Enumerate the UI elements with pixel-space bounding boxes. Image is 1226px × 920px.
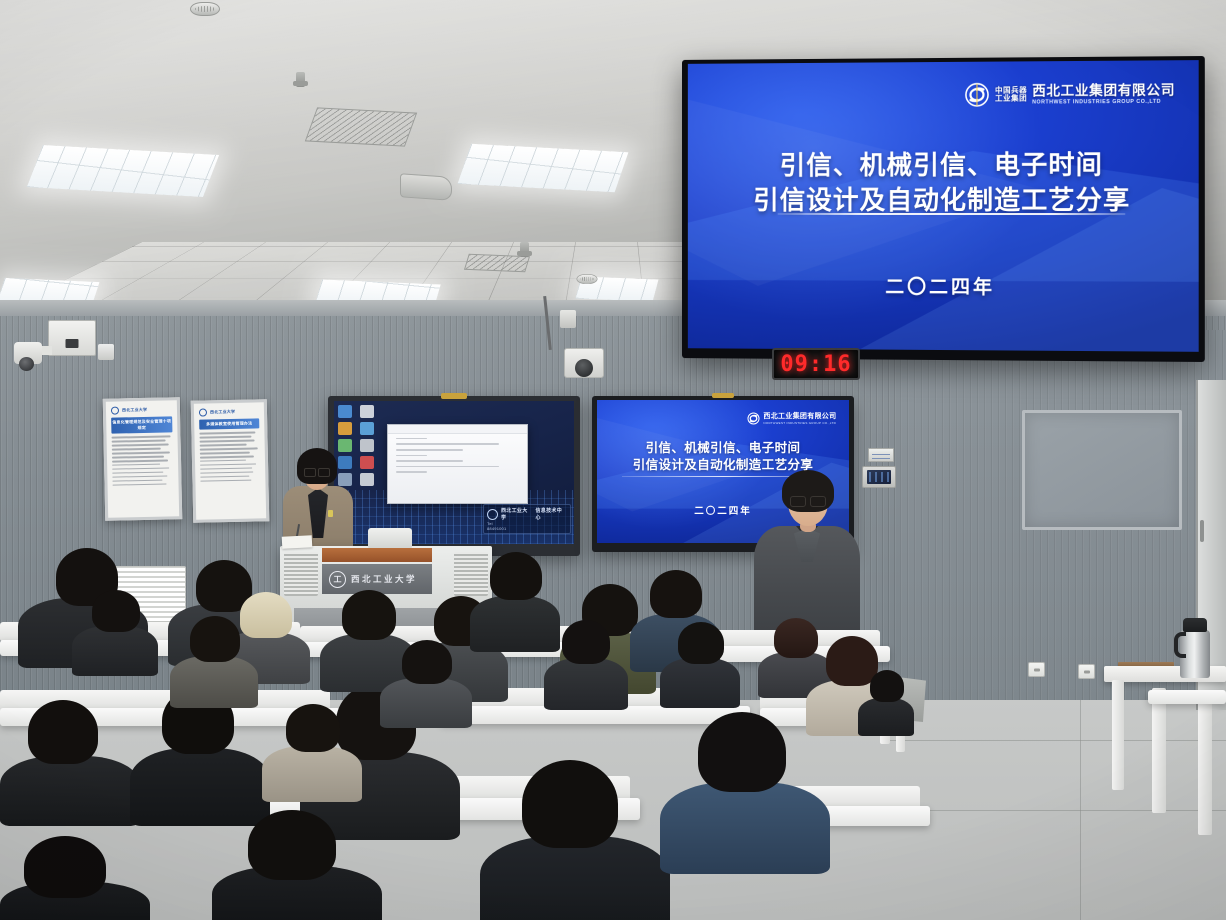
audience-member <box>858 670 914 730</box>
side-desk <box>1148 690 1226 704</box>
folder-icon[interactable] <box>338 405 352 418</box>
ptz-camera <box>564 348 604 378</box>
logo-text-block: 西北工业集团有限公司 NORTHWEST INDUSTRIES GROUP CO… <box>763 411 836 425</box>
recycle-bin-icon[interactable] <box>360 456 374 469</box>
browser-icon[interactable] <box>338 422 352 435</box>
host-badge <box>328 510 333 517</box>
digital-wall-clock: 09:16 <box>772 348 860 380</box>
smoke-detector-icon <box>190 2 220 16</box>
northwest-industries-group-logo-icon <box>747 412 760 425</box>
poster-banner: 多媒体教室使用管理办法 <box>199 418 259 429</box>
empty-whiteboard-frame <box>1022 410 1182 530</box>
watermark-univ: 西北工业大学 <box>501 507 533 521</box>
sprinkler-head <box>520 242 529 257</box>
glasses-icon <box>304 468 330 475</box>
wall-speaker-icon <box>560 310 576 328</box>
logo-company-en: NORTHWEST INDUSTRIES GROUP CO.,LTD <box>1032 98 1175 105</box>
audience-member <box>212 810 382 920</box>
clock-time: 09:16 <box>780 352 851 377</box>
desk-leg <box>1112 680 1124 790</box>
logo-company-cn: 西北工业集团有限公司 <box>763 411 836 421</box>
desk-leg <box>1152 688 1166 813</box>
poster-header: 西北工业大学 <box>199 407 259 416</box>
company-logo: 西北工业集团有限公司 NORTHWEST INDUSTRIES GROUP CO… <box>747 411 836 425</box>
tv-bezel: 中国兵器 工业集团 西北工业集团有限公司 NORTHWEST INDUSTRIE… <box>688 60 1199 352</box>
touchpanel-screen[interactable] <box>867 470 891 484</box>
media-icon[interactable] <box>360 422 374 435</box>
host-hair <box>297 448 337 484</box>
slide-title-line1: 引信、机械引信、电子时间 <box>688 148 1199 183</box>
poster-univ-name: 西北工业大学 <box>210 409 235 416</box>
thermos-lid <box>1183 618 1207 632</box>
smoke-detector-icon <box>577 274 598 284</box>
poster-univ-name: 西北工业大学 <box>122 407 147 414</box>
university-seal-icon <box>111 406 119 414</box>
door-handle[interactable] <box>1200 520 1204 542</box>
thermos-handle <box>1174 632 1186 658</box>
dialog-text-line <box>396 466 499 468</box>
dialog-text-line <box>396 460 463 462</box>
audience-member <box>380 640 472 720</box>
wall-mounted-television[interactable]: 中国兵器 工业集团 西北工业集团有限公司 NORTHWEST INDUSTRIE… <box>682 56 1205 362</box>
slide-title: 引信、机械引信、电子时间 引信设计及自动化制造工艺分享 <box>602 440 844 474</box>
slide-title: 引信、机械引信、电子时间 引信设计及自动化制造工艺分享 <box>688 148 1199 218</box>
laptop[interactable] <box>368 528 412 548</box>
wall-sensor-icon <box>98 344 114 360</box>
glasses-icon <box>790 496 826 505</box>
dialog-text-line <box>396 438 427 440</box>
poster-header: 西北工业大学 <box>111 405 172 414</box>
podium-vent-left <box>284 552 318 596</box>
logo-company-block: 西北工业集团有限公司 NORTHWEST INDUSTRIES GROUP CO… <box>1032 83 1175 105</box>
regulations-poster-left: 西北工业大学 信息化管理规范及安全管理十项规定 <box>103 397 183 521</box>
slide-year: 二〇二四年 <box>688 271 1199 300</box>
regulations-poster-right: 西北工业大学 多媒体教室使用管理办法 <box>191 399 270 523</box>
av-panel-label <box>868 448 894 462</box>
university-seal-icon <box>199 408 207 416</box>
fluorescent-panel-light <box>458 144 629 192</box>
tv-camera-icon <box>712 393 734 398</box>
security-camera-dome <box>14 342 42 364</box>
settings-icon[interactable] <box>360 439 374 452</box>
whiteboard-watermark: 西北工业大学 信息技术中心 Tel 88491001 <box>483 504 571 534</box>
whiteboard-camera-icon <box>441 393 467 399</box>
audience-member <box>262 704 362 794</box>
watermark-org: 信息技术中心 <box>536 507 568 521</box>
northwest-industries-group-logo-icon <box>964 82 990 108</box>
equipment-enclosure-box <box>48 320 96 356</box>
audience-member <box>480 760 670 920</box>
app-icon[interactable] <box>360 405 374 418</box>
presentation-slide: 中国兵器 工业集团 西北工业集团有限公司 NORTHWEST INDUSTRIE… <box>688 60 1199 352</box>
hvac-vent <box>305 107 417 146</box>
audience-member <box>660 622 740 702</box>
audience-member <box>72 590 158 668</box>
audience-member <box>0 836 150 920</box>
dialog-text-line <box>396 443 499 445</box>
ceiling-duct <box>400 173 452 201</box>
dialog-text-line <box>396 471 427 473</box>
company-logo: 中国兵器 工业集团 西北工业集团有限公司 NORTHWEST INDUSTRIE… <box>964 81 1175 108</box>
av-control-touchpanel[interactable] <box>862 466 896 488</box>
dialog-text-line <box>396 449 463 451</box>
university-emblem-icon: 工 <box>329 571 346 588</box>
shortcut-icon[interactable] <box>360 473 374 486</box>
slide-divider <box>778 213 1126 215</box>
logo-cn-line2: 工业集团 <box>995 95 1027 103</box>
emblem-char: 工 <box>334 574 342 585</box>
watermark-row: 西北工业大学 信息技术中心 <box>487 507 567 521</box>
watermark-contact-value: 88491001 <box>487 526 567 531</box>
podium-label: 西北工业大学 <box>351 573 417 585</box>
sprinkler-head <box>296 72 305 87</box>
poster-banner: 信息化管理规范及安全管理十项规定 <box>111 416 172 433</box>
interactive-whiteboard[interactable]: 西北工业大学 信息技术中心 Tel 88491001 <box>328 396 580 556</box>
audience-member <box>170 616 258 700</box>
logo-cn-block: 中国兵器 工业集团 <box>995 87 1027 103</box>
logo-company-en: NORTHWEST INDUSTRIES GROUP CO.,LTD <box>763 421 836 425</box>
poster-text-lines <box>199 431 260 482</box>
paper-sheet <box>282 535 313 549</box>
audience-member <box>660 712 830 862</box>
dialog-titlebar[interactable] <box>388 425 528 434</box>
university-seal-icon <box>487 509 498 520</box>
power-outlet[interactable] <box>1078 664 1095 679</box>
poster-text-lines <box>112 435 174 486</box>
podium-wood-strip <box>322 548 432 562</box>
lecture-hall-scene: 西北工业大学 信息化管理规范及安全管理十项规定 西北工业大学 多媒体教室使用管理… <box>0 0 1226 920</box>
dialog-text-line <box>396 455 427 457</box>
audience-member <box>544 620 628 702</box>
logo-company-cn: 西北工业集团有限公司 <box>1032 83 1175 99</box>
floor-tile-seam <box>880 740 1226 741</box>
floor-tile-seam <box>900 810 1226 811</box>
windows-properties-dialog[interactable] <box>387 424 529 504</box>
slide-title-line1: 引信、机械引信、电子时间 <box>602 440 844 457</box>
desk-leg <box>1198 700 1212 835</box>
whiteboard-screen[interactable]: 西北工业大学 信息技术中心 Tel 88491001 <box>334 401 574 544</box>
audience-member <box>0 700 140 820</box>
thermos-flask <box>1178 616 1212 678</box>
slide-title-line2: 引信设计及自动化制造工艺分享 <box>688 182 1199 217</box>
floor-tile-seam <box>1080 700 1081 920</box>
